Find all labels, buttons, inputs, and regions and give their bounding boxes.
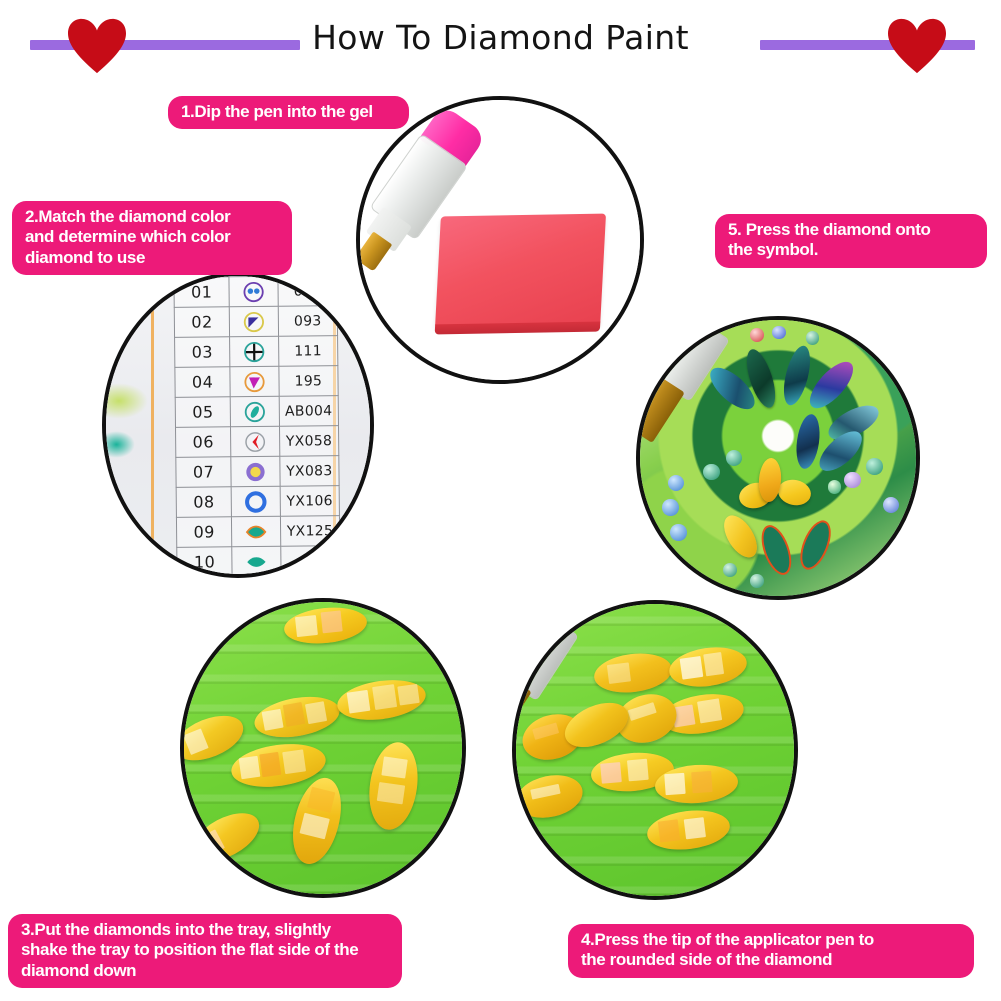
row-code: YX106	[280, 486, 339, 517]
table-row: 09 YX125	[176, 516, 339, 548]
row-symbol-cell	[229, 306, 278, 337]
step-4-label: 4.Press the tip of the applicator pen to…	[568, 924, 974, 978]
row-code: YX125	[280, 516, 339, 547]
double-dot-circle-symbol	[242, 280, 264, 302]
step-3-label: 3.Put the diamonds into the tray, slight…	[8, 914, 402, 988]
row-code: AB004	[279, 396, 338, 427]
step-5-label: 5. Press the diamond onto the symbol.	[715, 214, 987, 268]
yellow-dot-purple-ring-symbol	[244, 460, 266, 482]
step-1-label: 1.Dip the pen into the gel	[168, 96, 409, 129]
table-row: 01 020	[174, 276, 337, 308]
row-code: YX058	[279, 426, 338, 457]
table-row: 07 YX083	[175, 456, 338, 488]
row-symbol-cell	[230, 426, 279, 457]
teal-symbol	[245, 550, 267, 572]
row-number: 05	[175, 397, 231, 428]
row-symbol-cell	[230, 396, 279, 427]
step-2-label: 2.Match the diamond color and determine …	[12, 201, 292, 275]
row-number: 10	[176, 547, 232, 578]
round-drill	[668, 475, 685, 492]
step-4-image-bubble	[512, 600, 798, 900]
row-code: 020	[278, 276, 337, 307]
row-symbol-cell	[231, 456, 280, 487]
triangle-dark-blue-symbol	[243, 310, 265, 332]
table-row: 10	[176, 546, 339, 578]
row-code	[280, 546, 339, 577]
row-symbol-cell	[232, 546, 281, 577]
step-1-image-bubble	[356, 96, 644, 384]
chart-orange-guide-line	[151, 276, 154, 574]
pen-dipped-in-gel-photo	[360, 100, 640, 380]
round-drill	[806, 331, 820, 345]
row-code: YX083	[280, 456, 339, 487]
row-code: 093	[278, 306, 337, 337]
blue-ring-symbol	[244, 490, 266, 512]
row-number: 02	[174, 307, 230, 338]
red-arrow-left-symbol	[244, 430, 266, 452]
row-number: 03	[174, 337, 230, 368]
row-number: 08	[176, 487, 232, 518]
teal-leaf-orange-outline-symbol	[245, 520, 267, 542]
canvas-green-smudge	[102, 383, 148, 419]
how-to-diamond-paint-infographic: How To Diamond Paint 1.Dip the pen into …	[0, 0, 1001, 1001]
row-code: 195	[279, 366, 338, 397]
round-drill	[662, 499, 679, 516]
gel-pad-icon	[435, 213, 606, 328]
row-number: 04	[175, 367, 231, 398]
row-symbol-cell	[229, 336, 278, 367]
round-drill	[844, 472, 861, 489]
plus-cross-symbol	[243, 340, 265, 362]
table-row: 03 111	[174, 336, 337, 368]
step-2-image-bubble: 01 020 02	[102, 272, 374, 578]
triangle-magenta-symbol	[243, 370, 265, 392]
round-drill	[723, 563, 737, 577]
table-row: 08 YX106	[176, 486, 339, 518]
pen-picking-diamond-photo	[516, 604, 794, 896]
step-3-image-bubble	[180, 598, 466, 898]
table-row: 02 093	[174, 306, 337, 338]
row-number: 09	[176, 517, 232, 548]
color-chart-photo: 01 020 02	[106, 276, 370, 574]
step-5-image-bubble	[636, 316, 920, 600]
row-symbol-cell	[231, 516, 280, 547]
teal-oval-symbol	[244, 400, 266, 422]
round-drill	[866, 458, 883, 475]
round-drill	[703, 464, 720, 481]
row-symbol-cell	[229, 276, 278, 307]
row-number: 06	[175, 427, 231, 458]
diamond-color-legend-table: 01 020 02	[173, 275, 340, 578]
row-symbol-cell	[230, 366, 279, 397]
row-number: 07	[175, 457, 231, 488]
diamonds-in-tray-photo	[184, 602, 462, 894]
row-symbol-cell	[231, 486, 280, 517]
table-row: 05 AB004	[175, 396, 338, 428]
round-drill	[750, 574, 764, 588]
diamond-pressed-on-canvas-photo	[640, 320, 916, 596]
canvas-teal-smudge	[102, 431, 135, 458]
row-code: 111	[278, 336, 337, 367]
row-number: 01	[174, 277, 230, 308]
table-row: 06 YX058	[175, 426, 338, 458]
table-row: 04 195	[175, 366, 338, 398]
round-drill	[670, 524, 687, 541]
page-title: How To Diamond Paint	[0, 18, 1001, 57]
